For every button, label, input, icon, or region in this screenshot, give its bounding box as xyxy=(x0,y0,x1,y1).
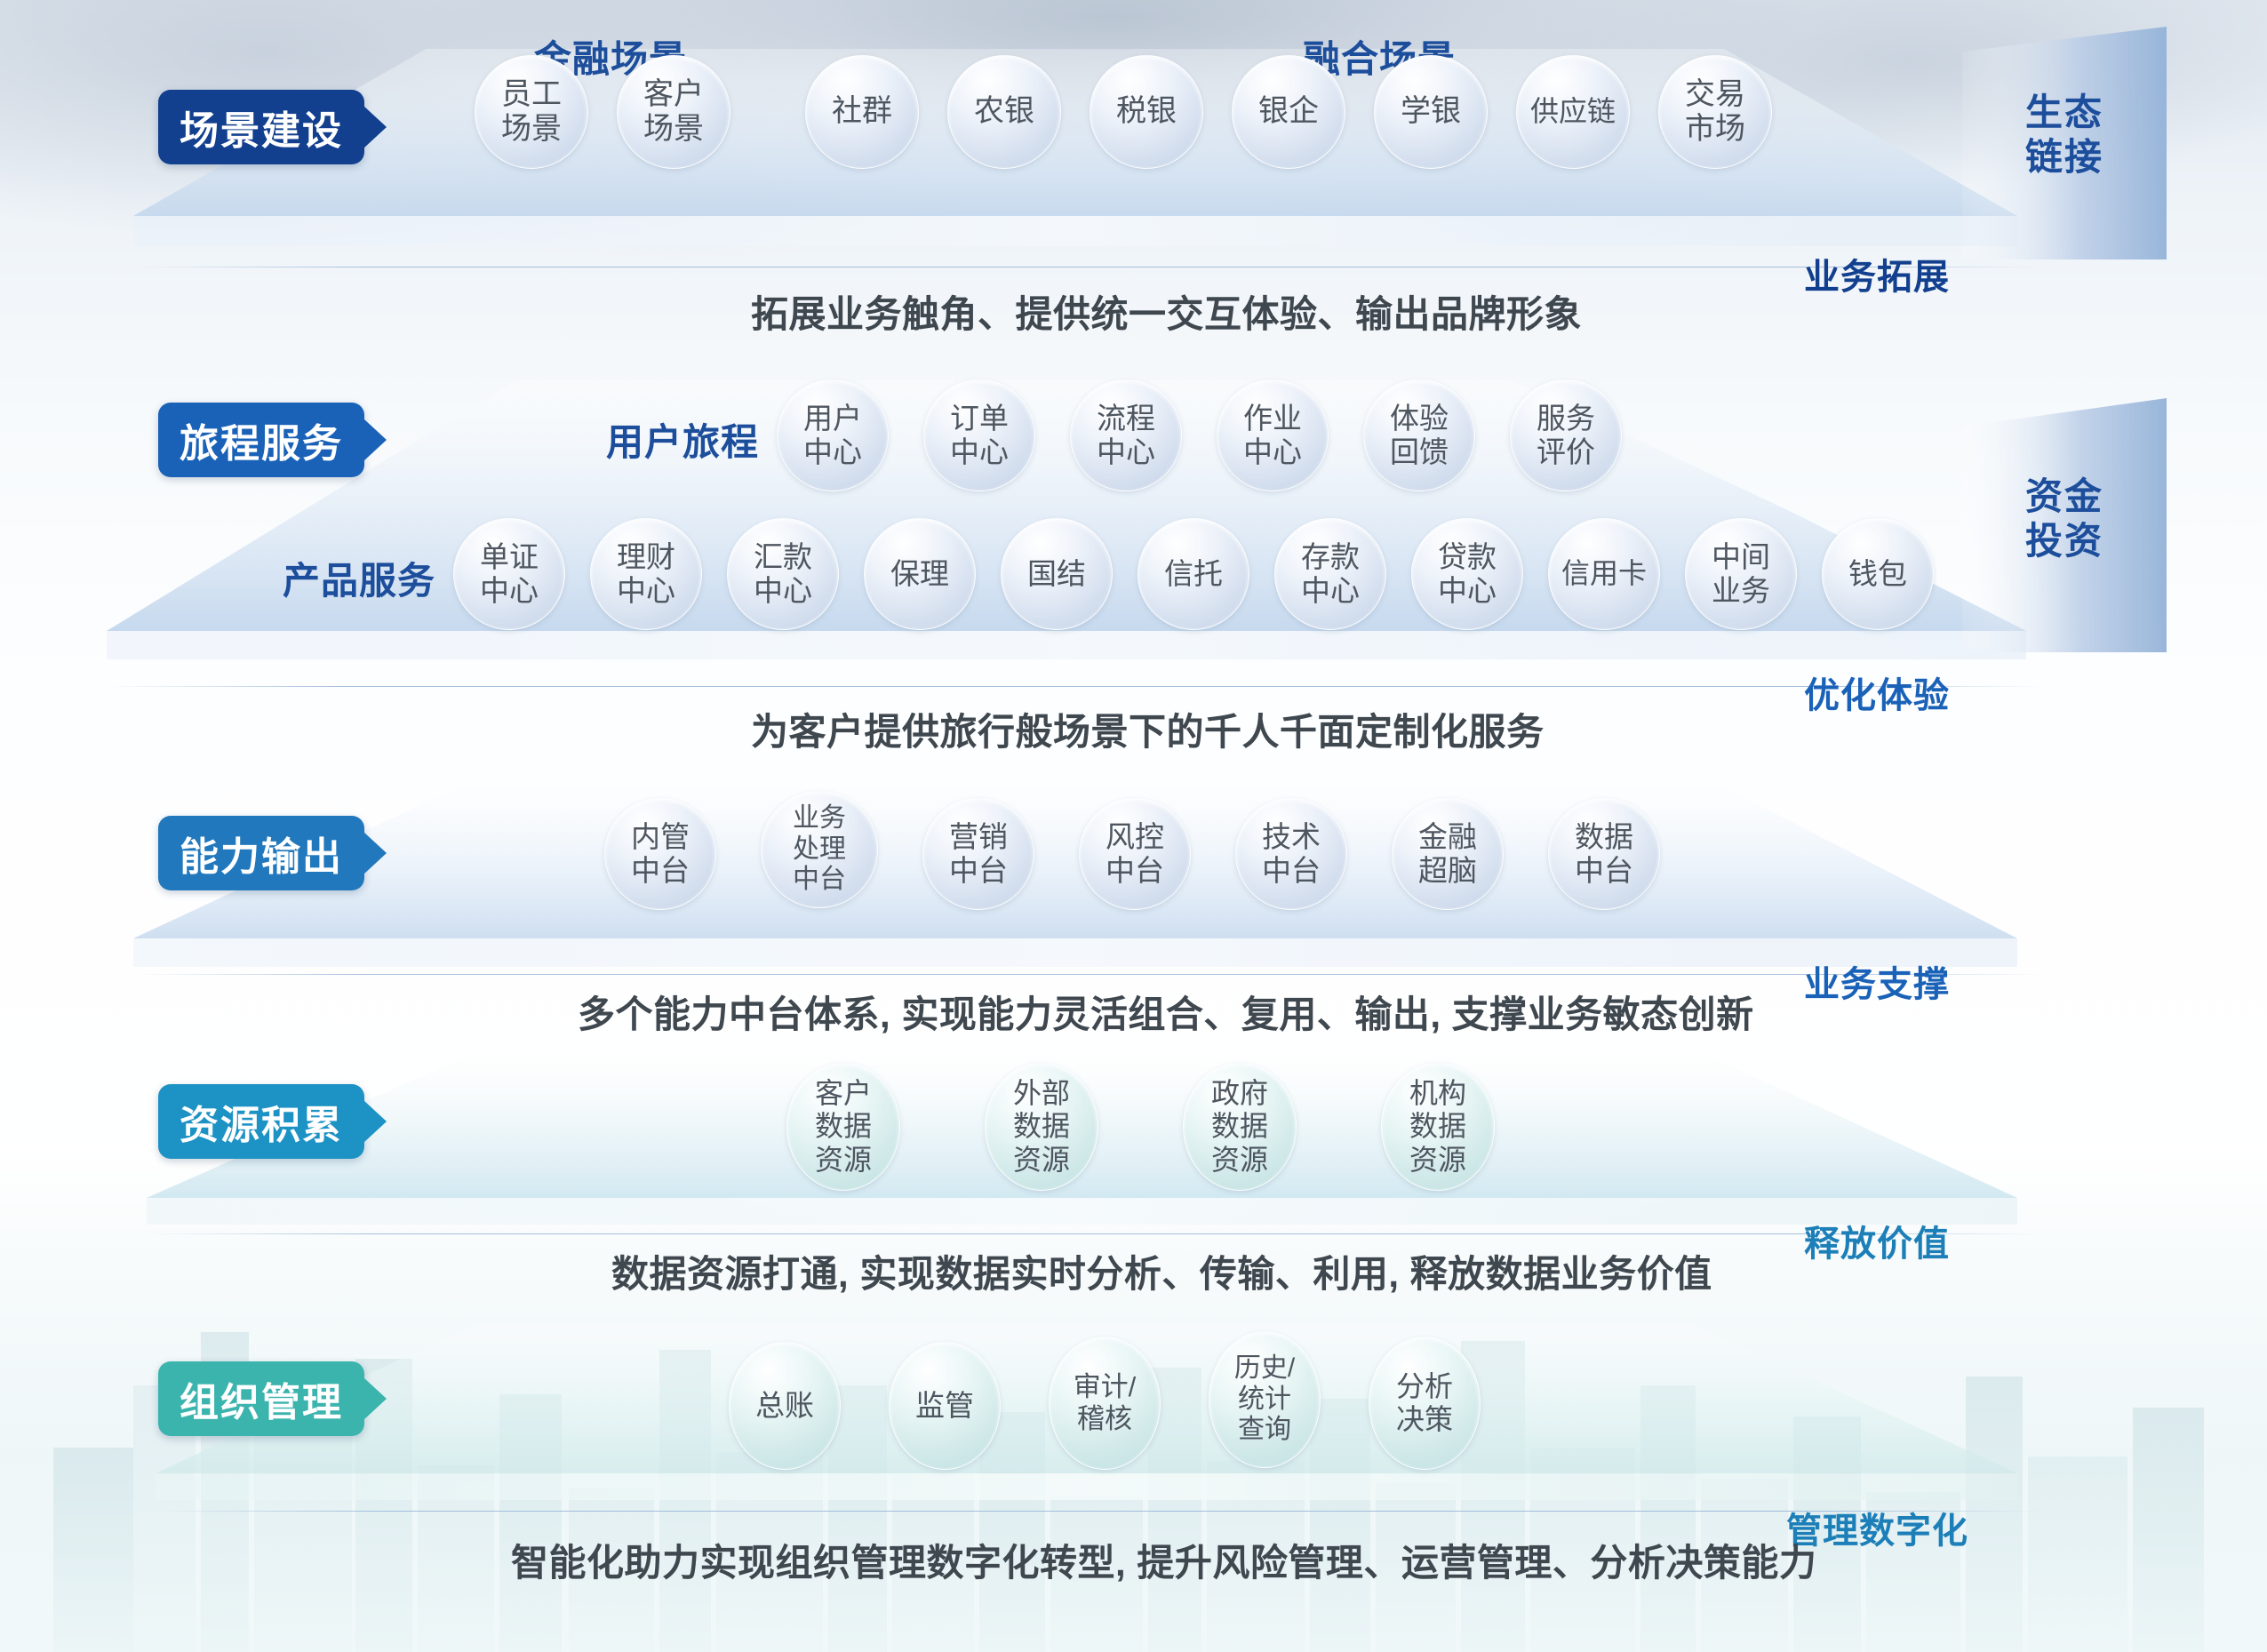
tier-edge-tag-scene: 业务拓展 xyxy=(1804,248,1950,299)
node-product-wealth-center[interactable]: 理财 中心 xyxy=(590,518,702,630)
node-product-remittance-center[interactable]: 汇款 中心 xyxy=(727,518,839,630)
node-journey-process-center[interactable]: 流程 中心 xyxy=(1070,379,1182,491)
node-org-analysis-decision[interactable]: 分析 决策 xyxy=(1369,1337,1481,1470)
node-journey-user-center[interactable]: 用户 中心 xyxy=(777,379,889,491)
node-capability-internal-mgmt[interactable]: 内管 中台 xyxy=(604,798,716,910)
node-product-wallet[interactable]: 钱包 xyxy=(1822,518,1934,630)
node-capability-business-processing[interactable]: 业务 处理 中台 xyxy=(761,791,878,908)
tier-caption-capability: 多个能力中台体系, 实现能力灵活组合、复用、输出, 支撑业务敏态创新 xyxy=(578,985,1754,1039)
tier-pill-capability-label: 能力输出 xyxy=(180,825,343,882)
pill-notch-icon xyxy=(363,1377,387,1420)
node-capability-data[interactable]: 数据 中台 xyxy=(1548,798,1660,910)
node-capability-risk-control[interactable]: 风控 中台 xyxy=(1079,798,1191,910)
architecture-diagram: 场景建设 金融场景 融合场景 员工 场景 客户 场景 社群 农银 税银 银企 学… xyxy=(0,0,2267,1652)
side-banner-funding-line1: 资金 xyxy=(2025,475,2103,519)
node-scene-supply-chain[interactable]: 供应链 xyxy=(1516,55,1630,169)
node-product-loan-center[interactable]: 贷款 中心 xyxy=(1411,518,1523,630)
side-banner-funding-line2: 投资 xyxy=(2025,519,2103,563)
node-resource-institution-data[interactable]: 机构 数据 资源 xyxy=(1381,1063,1495,1191)
node-org-general-ledger[interactable]: 总账 xyxy=(729,1342,841,1470)
node-journey-operation-center[interactable]: 作业 中心 xyxy=(1217,379,1329,491)
tier-band-capability xyxy=(133,773,2017,986)
node-resource-customer-data[interactable]: 客户 数据 资源 xyxy=(786,1063,900,1191)
pill-notch-icon xyxy=(363,419,387,461)
node-resource-government-data[interactable]: 政府 数据 资源 xyxy=(1183,1063,1297,1191)
tier-pill-organization[interactable]: 组织管理 xyxy=(158,1361,364,1436)
node-product-credit-card[interactable]: 信用卡 xyxy=(1548,518,1660,630)
node-journey-service-rating[interactable]: 服务 评价 xyxy=(1510,379,1622,491)
side-banner-ecosystem-line2: 链接 xyxy=(2025,135,2103,180)
tier-rule-scene xyxy=(133,267,2044,267)
node-capability-marketing[interactable]: 营销 中台 xyxy=(922,798,1034,910)
node-journey-order-center[interactable]: 订单 中心 xyxy=(923,379,1035,491)
node-org-supervision[interactable]: 监管 xyxy=(889,1342,1001,1470)
pill-notch-icon xyxy=(363,1100,387,1143)
tier-pill-organization-label: 组织管理 xyxy=(180,1370,343,1427)
side-banner-ecosystem-line1: 生态 xyxy=(2025,91,2103,135)
pill-notch-icon xyxy=(363,832,387,874)
tier-caption-scene: 拓展业务触角、提供统一交互体验、输出品牌形象 xyxy=(751,284,1582,339)
node-scene-tax-bank[interactable]: 税银 xyxy=(1090,55,1203,169)
node-product-intermediary-business[interactable]: 中间 业务 xyxy=(1685,518,1797,630)
node-resource-external-data[interactable]: 外部 数据 资源 xyxy=(985,1063,1098,1191)
tier-rule-journey xyxy=(107,686,2044,687)
node-org-history-statistics-query[interactable]: 历史/ 统计 查询 xyxy=(1209,1331,1321,1468)
node-capability-finance-brain[interactable]: 金融 超脑 xyxy=(1392,798,1504,910)
node-product-document-center[interactable]: 单证 中心 xyxy=(453,518,565,630)
tier-pill-scene-label: 场景建设 xyxy=(180,99,343,156)
node-org-audit-inspection[interactable]: 审计/ 稽核 xyxy=(1049,1337,1161,1470)
tier-edge-tag-resource: 释放价值 xyxy=(1804,1215,1950,1266)
tier-pill-resource[interactable]: 资源积累 xyxy=(158,1084,364,1159)
node-product-intl-settlement[interactable]: 国结 xyxy=(1001,518,1113,630)
group-heading-product-service: 产品服务 xyxy=(283,551,435,605)
tier-caption-journey: 为客户提供旅行般场景下的千人千面定制化服务 xyxy=(751,702,1545,756)
node-product-deposit-center[interactable]: 存款 中心 xyxy=(1274,518,1386,630)
tier-pill-capability[interactable]: 能力输出 xyxy=(158,816,364,890)
tier-edge-tag-capability: 业务支撑 xyxy=(1804,955,1950,1007)
node-scene-agri-bank[interactable]: 农银 xyxy=(947,55,1061,169)
node-capability-technology[interactable]: 技术 中台 xyxy=(1235,798,1347,910)
tier-pill-journey[interactable]: 旅程服务 xyxy=(158,403,364,477)
node-scene-employee[interactable]: 员工 场景 xyxy=(475,55,588,169)
node-journey-experience-feedback[interactable]: 体验 回馈 xyxy=(1363,379,1475,491)
tier-edge-tag-journey: 优化体验 xyxy=(1804,666,1950,718)
tier-pill-journey-label: 旅程服务 xyxy=(180,411,343,468)
node-scene-customer[interactable]: 客户 场景 xyxy=(617,55,730,169)
tier-rule-organization xyxy=(156,1511,2044,1512)
node-scene-community[interactable]: 社群 xyxy=(805,55,919,169)
pill-notch-icon xyxy=(363,106,387,148)
tier-pill-resource-label: 资源积累 xyxy=(180,1093,343,1150)
tier-caption-organization: 智能化助力实现组织管理数字化转型, 提升风险管理、运营管理、分析决策能力 xyxy=(511,1533,1816,1587)
side-banner-funding: 资金 投资 xyxy=(1962,386,2167,652)
node-scene-school-bank[interactable]: 学银 xyxy=(1374,55,1488,169)
node-scene-bank-enterprise[interactable]: 银企 xyxy=(1232,55,1345,169)
tier-pill-scene[interactable]: 场景建设 xyxy=(158,90,364,164)
node-scene-trading-market[interactable]: 交易 市场 xyxy=(1658,55,1772,169)
side-banner-ecosystem: 生态 链接 xyxy=(1962,11,2167,259)
node-product-trust[interactable]: 信托 xyxy=(1137,518,1249,630)
tier-caption-resource: 数据资源打通, 实现数据实时分析、传输、利用, 释放数据业务价值 xyxy=(611,1244,1712,1298)
tier-rule-resource xyxy=(147,1233,2044,1234)
group-heading-user-journey: 用户旅程 xyxy=(606,412,759,467)
node-product-factoring[interactable]: 保理 xyxy=(864,518,976,630)
tier-rule-capability xyxy=(133,974,2044,975)
